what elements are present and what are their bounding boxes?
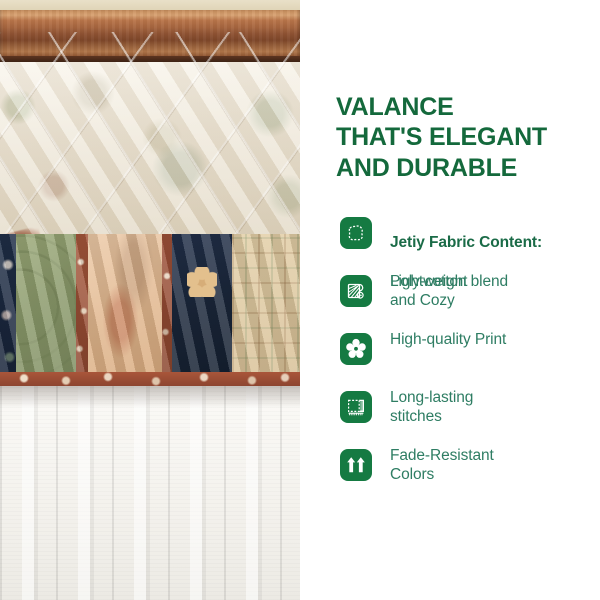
list-item-lead: Jetiy Fabric Content: [390, 234, 537, 251]
list-item-label: Lightweight and Cozy: [390, 270, 467, 311]
list-item-label: Fade-Resistant Colors: [390, 444, 494, 485]
list-item-label: High-quality Print: [390, 328, 506, 349]
list-item: High-quality Print: [340, 328, 588, 386]
patch-navy-gold-flower: [172, 234, 232, 374]
stitched-patch-icon: [340, 391, 372, 423]
gold-flower-motif: [187, 267, 217, 297]
feature-list: Jetiy Fabric Content: Poly-cotton blend …: [340, 212, 588, 502]
product-feature-graphic: VALANCE THAT'S ELEGANT AND DURABLE Jetiy…: [0, 0, 600, 600]
fabric-swatch-icon: [340, 217, 372, 249]
curtain-top-shadow: [0, 386, 300, 408]
fabric-roll-icon: [340, 275, 372, 307]
patch-tan-peach: [88, 234, 162, 374]
list-item: Jetiy Fabric Content: Poly-cotton blend: [340, 212, 588, 270]
list-item-lead-suffix: :: [537, 234, 542, 251]
patch-rust-floral-strip-2: [162, 234, 172, 374]
quilted-floral-valance: [0, 62, 300, 234]
double-up-arrow-icon: [340, 449, 372, 481]
list-item: Fade-Resistant Colors: [340, 444, 588, 502]
white-curtain-panel: [0, 386, 300, 600]
list-item: Long-lasting stitches: [340, 386, 588, 444]
list-item: Lightweight and Cozy: [340, 270, 588, 328]
product-photo: [0, 0, 300, 600]
patch-tan-plaid: [232, 234, 300, 374]
patch-sage-green: [16, 234, 76, 374]
patchwork-band: [0, 234, 300, 374]
rust-floral-binding: [0, 372, 300, 386]
list-item-label: Long-lasting stitches: [390, 386, 473, 427]
flower-icon: [340, 333, 372, 365]
info-panel: VALANCE THAT'S ELEGANT AND DURABLE Jetiy…: [300, 0, 600, 600]
page-title: VALANCE THAT'S ELEGANT AND DURABLE: [336, 92, 586, 183]
patch-rust-floral-strip: [76, 234, 88, 374]
patch-navy-floral: [0, 234, 16, 374]
